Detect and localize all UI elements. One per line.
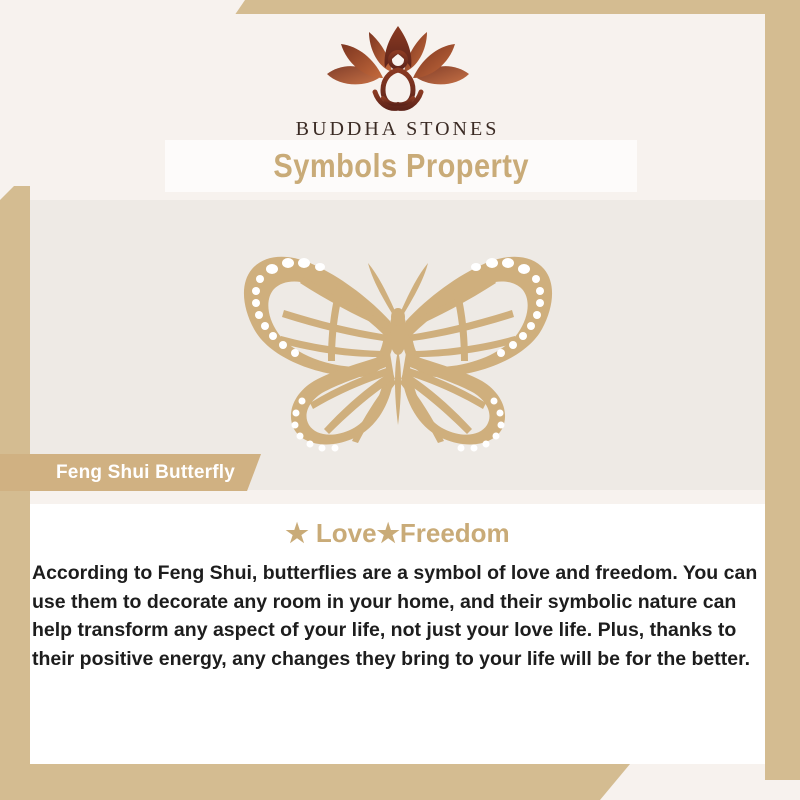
gold-band-left bbox=[0, 186, 30, 800]
poster-card: BUDDHA STONES Symbols Property bbox=[30, 14, 765, 764]
gold-band-bottom bbox=[0, 764, 630, 800]
page-title: Symbols Property bbox=[273, 147, 529, 185]
ribbon-label: Feng Shui Butterfly bbox=[56, 462, 235, 484]
brand-wordmark: BUDDHA STONES bbox=[30, 118, 765, 141]
brand-logo-block: BUDDHA STONES bbox=[30, 20, 765, 141]
content-subheading: ★ Love★Freedom bbox=[30, 518, 765, 549]
butterfly-icon bbox=[218, 225, 578, 465]
illustration-panel bbox=[30, 200, 765, 490]
feng-shui-ribbon: Feng Shui Butterfly bbox=[0, 454, 261, 491]
title-plaque: Symbols Property bbox=[165, 140, 637, 192]
body-panel: ★ Love★Freedom According to Feng Shui, b… bbox=[30, 504, 765, 764]
poster-root: BUDDHA STONES Symbols Property bbox=[0, 0, 800, 800]
content-paragraph: According to Feng Shui, butterflies are … bbox=[30, 559, 765, 674]
gold-band-right bbox=[765, 0, 800, 780]
lotus-meditation-icon bbox=[313, 20, 483, 116]
